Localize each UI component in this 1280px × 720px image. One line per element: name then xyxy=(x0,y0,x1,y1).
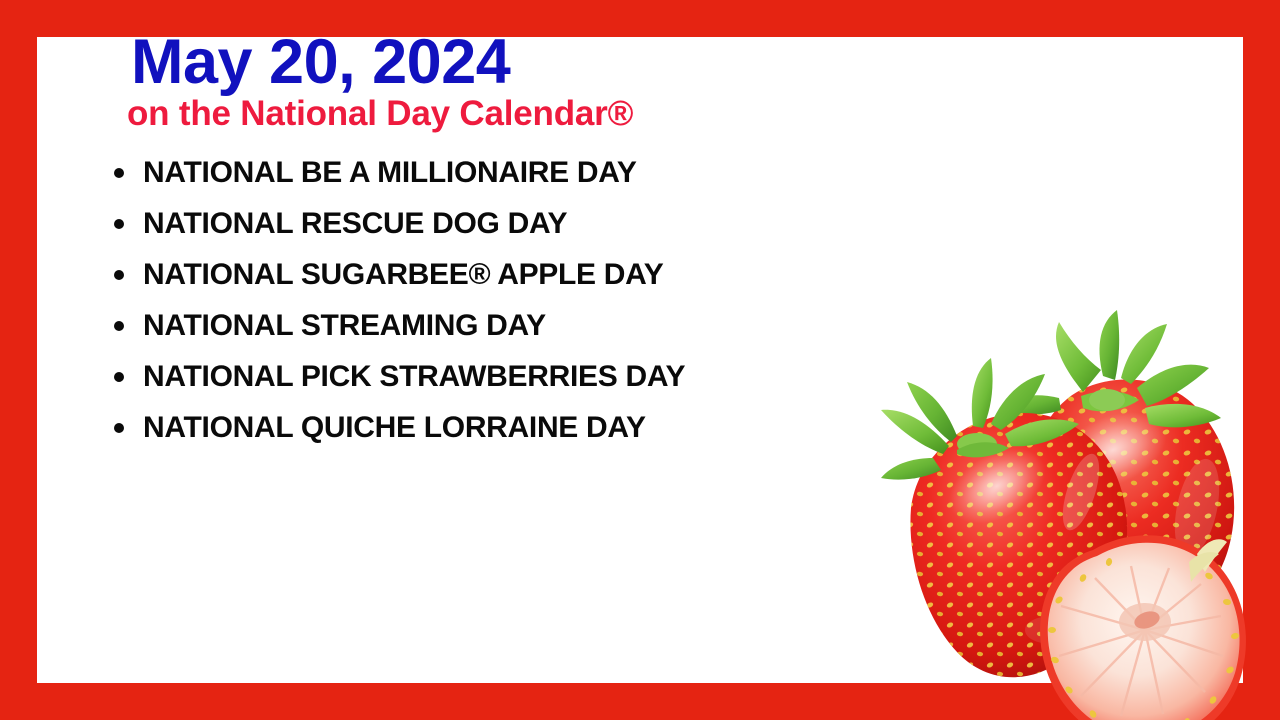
list-item: NATIONAL QUICHE LORRAINE DAY xyxy=(95,402,955,453)
bullet-icon xyxy=(114,423,124,433)
list-item: NATIONAL PICK STRAWBERRIES DAY xyxy=(95,351,955,402)
list-item-label: NATIONAL BE A MILLIONAIRE DAY xyxy=(143,156,637,189)
text-content-block: May 20, 2024 on the National Day Calenda… xyxy=(95,30,955,453)
list-item-label: NATIONAL QUICHE LORRAINE DAY xyxy=(143,411,646,444)
bullet-icon xyxy=(114,219,124,229)
list-item-label: NATIONAL STREAMING DAY xyxy=(143,309,546,342)
bullet-icon xyxy=(114,270,124,280)
page-title: May 20, 2024 xyxy=(131,30,955,94)
national-day-list: NATIONAL BE A MILLIONAIRE DAY NATIONAL R… xyxy=(95,147,955,453)
list-item-label: NATIONAL SUGARBEE® APPLE DAY xyxy=(143,258,663,291)
list-item: NATIONAL SUGARBEE® APPLE DAY xyxy=(95,249,955,300)
list-item: NATIONAL BE A MILLIONAIRE DAY xyxy=(95,147,955,198)
poster-canvas: May 20, 2024 on the National Day Calenda… xyxy=(0,0,1280,720)
bullet-icon xyxy=(114,321,124,331)
list-item: NATIONAL RESCUE DOG DAY xyxy=(95,198,955,249)
bullet-icon xyxy=(114,168,124,178)
list-item-label: NATIONAL PICK STRAWBERRIES DAY xyxy=(143,360,685,393)
page-subtitle: on the National Day Calendar® xyxy=(127,96,955,133)
list-item-label: NATIONAL RESCUE DOG DAY xyxy=(143,207,567,240)
list-item: NATIONAL STREAMING DAY xyxy=(95,300,955,351)
bullet-icon xyxy=(114,372,124,382)
